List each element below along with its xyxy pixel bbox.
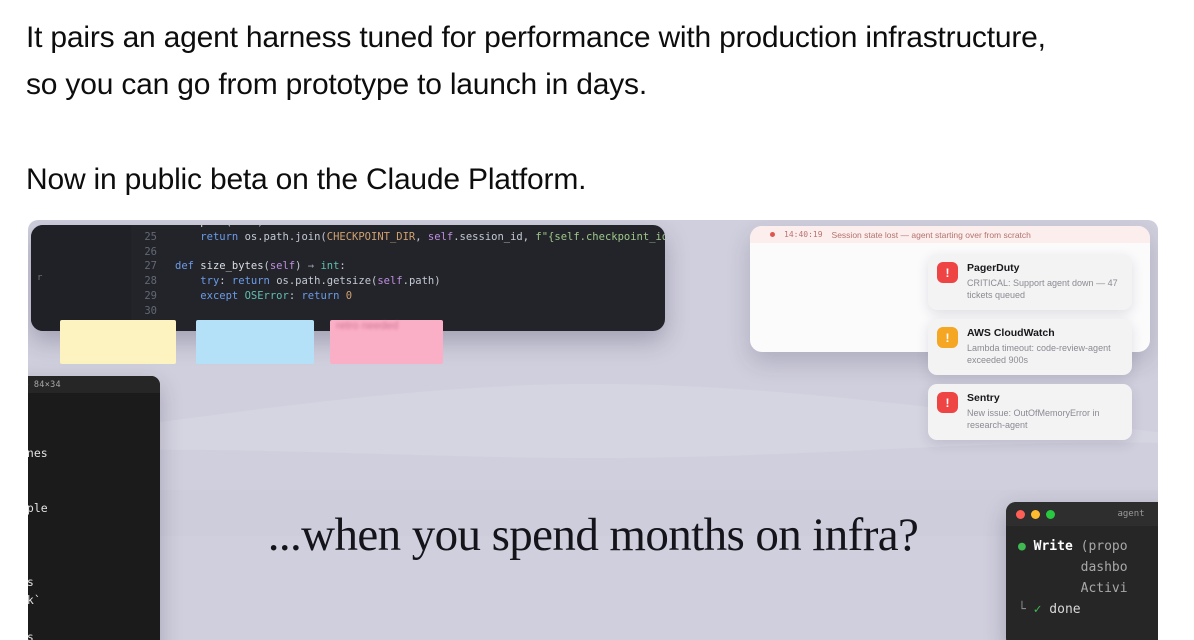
post-copy: It pairs an agent harness tuned for perf… <box>26 14 1066 203</box>
sticky-note-yellow[interactable] <box>60 320 176 364</box>
sticky-note-blue[interactable] <box>196 320 314 364</box>
tool-name: Write <box>1034 539 1073 554</box>
terminal-line: , and the `.bak` <box>28 593 41 607</box>
alert-message: Session state lost — agent starting over… <box>832 230 1031 240</box>
code-line: 27def size_bytes(self) → int: <box>131 259 665 274</box>
notification-message: Lambda timeout: code-review-agent exceed… <box>967 342 1122 366</box>
tree-branch-icon: └ <box>1018 602 1034 617</box>
code-editor-window[interactable]: r sages 24def path(self) → str:25 return… <box>31 225 665 331</box>
code-line: 25 return os.path.join(CHECKPOINT_DIR, s… <box>131 230 665 245</box>
paragraph-spacer <box>26 108 1066 156</box>
agent-terminal-output[interactable]: ● Write (propo dashbo Activi └ ✓ done ● … <box>1006 526 1158 640</box>
post-paragraph-1: It pairs an agent harness tuned for perf… <box>26 14 1066 108</box>
line-number: 28 <box>131 274 157 289</box>
alert-status-dot-icon <box>770 232 775 237</box>
terminal-line: aker.py) 78 lines <box>28 446 48 460</box>
notification-aws-cloudwatch[interactable]: ! AWS CloudWatch Lambda timeout: code-re… <box>928 319 1132 375</box>
post-paragraph-2: Now in public beta on the Claude Platfor… <box>26 156 1066 203</box>
notification-app-name: AWS CloudWatch <box>967 327 1122 340</box>
alert-exclamation-icon: ! <box>937 327 958 348</box>
code-line: 28 try: return os.path.getsize(self.path… <box>131 274 665 289</box>
line-number: 29 <box>131 289 157 304</box>
agent-terminal-window[interactable]: agent ● Write (propo dashbo Activi └ ✓ d… <box>1006 502 1158 640</box>
line-number: 25 <box>131 230 157 245</box>
media-card[interactable]: r sages 24def path(self) → str:25 return… <box>28 220 1158 640</box>
right-margin <box>1158 0 1194 640</box>
alert-exclamation-icon: ! <box>937 392 958 413</box>
notification-body: PagerDuty CRITICAL: Support agent down —… <box>967 262 1122 301</box>
left-terminal-titlebar: — 84×34 <box>28 376 160 393</box>
line-number: 26 <box>131 245 157 260</box>
editor-sidebar-hint-top: r <box>37 273 64 283</box>
line-number: 30 <box>131 304 157 319</box>
alert-exclamation-icon: ! <box>937 262 958 283</box>
notification-message: CRITICAL: Support agent down — 47 ticket… <box>967 277 1122 301</box>
code-line: 29 except OSError: return 0 <box>131 289 665 304</box>
agent-terminal-title: agent <box>1006 509 1158 519</box>
editor-code-area[interactable]: 24def path(self) → str:25 return os.path… <box>131 225 665 319</box>
media-headline: ...when you spend months on infra? <box>28 508 1158 562</box>
notification-pagerduty[interactable]: ! PagerDuty CRITICAL: Support agent down… <box>928 254 1132 310</box>
notification-stack: ! PagerDuty CRITICAL: Support agent down… <box>928 254 1132 449</box>
code-line: 30 <box>131 304 665 319</box>
alert-timestamp: 14:40:19 <box>784 230 823 239</box>
terminal-line: 847.ckpt.gz` is <box>28 575 34 589</box>
session-alert-row[interactable]: 14:40:19 Session state lost — agent star… <box>750 226 1150 243</box>
line-number: 27 <box>131 259 157 274</box>
tool-status-dot-icon: ● <box>1018 539 1026 554</box>
notification-app-name: PagerDuty <box>967 262 1122 275</box>
notification-app-name: Sentry <box>967 392 1122 405</box>
terminal-line: osing 847 steps <box>28 630 34 640</box>
notification-body: AWS CloudWatch Lambda timeout: code-revi… <box>967 327 1122 366</box>
code-line: 26 <box>131 245 665 260</box>
notification-sentry[interactable]: ! Sentry New issue: OutOfMemoryError in … <box>928 384 1132 440</box>
tool-arg: Activi <box>1081 581 1128 596</box>
tool-status: done <box>1041 602 1080 617</box>
agent-terminal-titlebar: agent <box>1006 502 1158 526</box>
notification-body: Sentry New issue: OutOfMemoryError in re… <box>967 392 1122 431</box>
tool-arg: dashbo <box>1081 560 1128 575</box>
notification-message: New issue: OutOfMemoryError in research-… <box>967 407 1122 431</box>
tool-arg: (propo <box>1081 539 1128 554</box>
sticky-note-pink-label: retro needed <box>336 320 446 332</box>
